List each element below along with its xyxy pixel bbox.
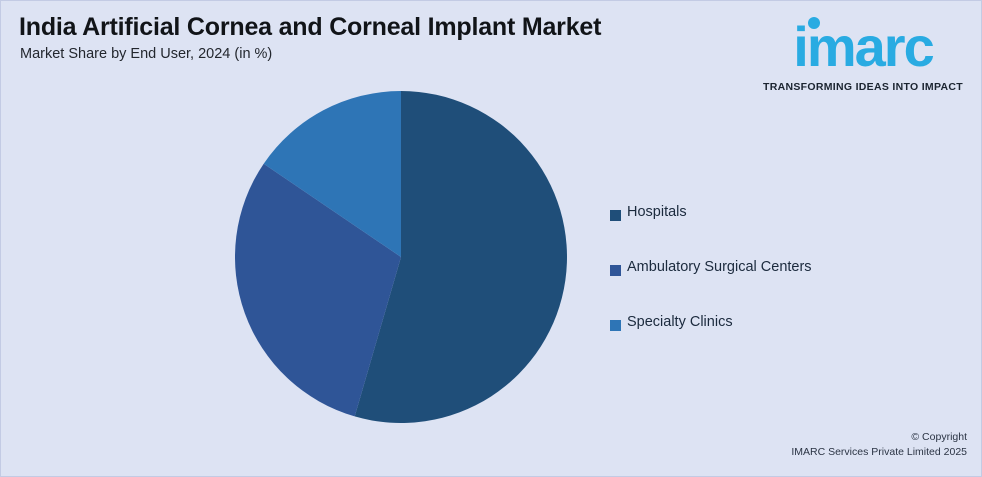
copyright-line: © Copyright	[791, 430, 967, 445]
legend-swatch-icon	[610, 320, 621, 331]
pie-chart-svg	[235, 91, 567, 423]
pie-chart	[235, 91, 567, 423]
logo-tagline: TRANSFORMING IDEAS INTO IMPACT	[757, 81, 969, 93]
page-title: India Artificial Cornea and Corneal Impl…	[19, 13, 601, 42]
legend-item-label: Hospitals	[627, 204, 687, 220]
legend-item-label: Specialty Clinics	[627, 314, 733, 330]
imarc-logo: imarc TRANSFORMING IDEAS INTO IMPACT	[757, 9, 969, 95]
copyright-footer: © Copyright IMARC Services Private Limit…	[791, 430, 967, 460]
page-subtitle: Market Share by End User, 2024 (in %)	[20, 46, 272, 62]
logo-wordmark: imarc	[757, 19, 969, 75]
chart-canvas: India Artificial Cornea and Corneal Impl…	[0, 0, 982, 477]
company-line: IMARC Services Private Limited 2025	[791, 445, 967, 460]
legend-swatch-icon	[610, 210, 621, 221]
legend-item-label: Ambulatory Surgical Centers	[627, 259, 812, 275]
legend-swatch-icon	[610, 265, 621, 276]
